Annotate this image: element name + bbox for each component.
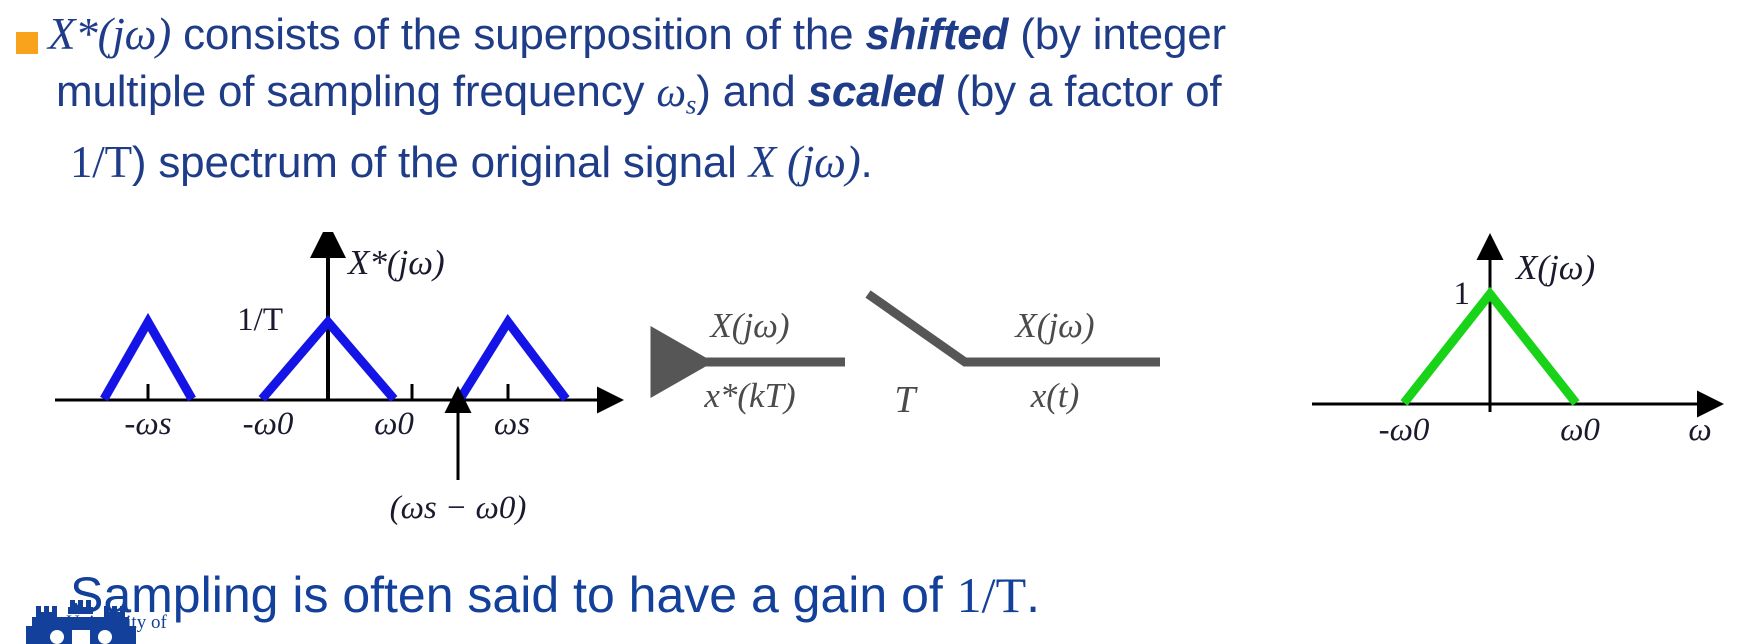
annotation-ws-minus-w0: (ωs − ω0) (390, 490, 527, 526)
label-below-right-arrow: x(t) (1030, 376, 1080, 415)
peak-label-one-over-t: 1/T (237, 302, 283, 338)
math-x-jw: X (jω) (749, 137, 861, 187)
label-below-left-arrow: x*(kT) (703, 376, 795, 415)
peak-label-one: 1 (1454, 276, 1471, 312)
math-one-over-t: 1/T (70, 137, 132, 187)
sampler-block-diagram: X(jω) x*(kT) T X(jω) x(t) (655, 294, 1160, 421)
chart-title-x-jw: X(jω) (1514, 248, 1595, 287)
bullet-marker-square (16, 32, 38, 54)
chart-title-x-star-jw: X*(jω) (346, 243, 445, 282)
sampling-spectra-figure: 1/T X*(jω) -ωs -ω0 ω0 ωs (ωs − ω0) X(jω)… (0, 232, 1750, 542)
math-omega-s: ωs (656, 70, 696, 116)
emph-scaled: scaled (808, 67, 944, 116)
bottom-math-one-over-t: 1/T (957, 567, 1026, 623)
x-tick-label-neg-w0-right: -ω0 (1379, 412, 1430, 448)
math-one-over-t-text: 1/T (70, 137, 132, 187)
x-tick-label-w0-right: ω0 (1560, 412, 1600, 448)
x-axis-label-omega: ω (1688, 412, 1711, 448)
x-tick-label-ws: ωs (494, 406, 530, 442)
x-tick-label-w0: ω0 (374, 406, 414, 442)
bullet-line2-text-b: ) and (696, 67, 807, 116)
chart-original-spectrum: 1 X(jω) -ω0 ω0 ω (1312, 248, 1712, 448)
math-omega-s-subscript: s (686, 90, 696, 120)
label-sampling-period-t: T (894, 379, 918, 421)
bullet-line2-text-a: multiple of sampling frequency (56, 67, 656, 116)
bottom-text-b: . (1026, 567, 1040, 623)
logo-caption: University of (66, 612, 167, 634)
replica-positive-ws (460, 322, 566, 399)
bottom-statement: Sampling is often said to have a gain of… (70, 566, 1040, 624)
bullet-line1-text-a: consists of the superposition of the (171, 10, 865, 59)
sampler-switch-symbol (868, 294, 1160, 362)
bullet-line-1: X*(jω) consists of the superposition of … (48, 6, 1748, 63)
bullet-paragraph: X*(jω) consists of the superposition of … (8, 6, 1748, 191)
math-omega-s-base: ω (656, 70, 685, 116)
bullet-line3-text-a: ) spectrum of the original signal (132, 138, 749, 187)
math-x-star-jw: X*(jω) (48, 9, 171, 59)
label-above-right-arrow: X(jω) (1013, 306, 1094, 345)
bottom-text-a: Sampling is often said to have a gain of (70, 567, 957, 623)
bullet-line-2: multiple of sampling frequency ωs) and s… (56, 63, 1748, 134)
bullet-line2-text-c: (by a factor of (943, 67, 1221, 116)
label-above-left-arrow: X(jω) (708, 306, 789, 345)
chart-sampled-spectrum: 1/T X*(jω) -ωs -ω0 ω0 ωs (ωs − ω0) (55, 243, 600, 526)
bullet-line-3: 1/T) spectrum of the original signal X (… (70, 134, 1748, 191)
bullet-line1-text-b: (by integer (1008, 10, 1226, 59)
emph-shifted: shifted (865, 10, 1008, 59)
x-tick-label-neg-ws: -ωs (124, 406, 171, 442)
x-tick-label-neg-w0: -ω0 (243, 406, 294, 442)
bullet-line3-text-b: . (861, 138, 873, 187)
